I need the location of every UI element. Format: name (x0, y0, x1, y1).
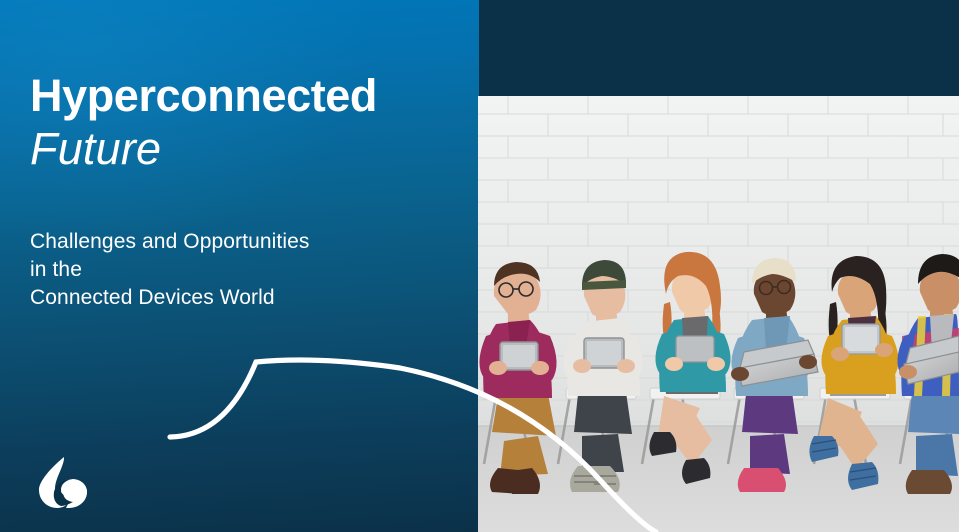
page-title: Hyperconnected (30, 72, 460, 120)
presentation-slide: Row of seven diverse young people seated… (0, 0, 959, 532)
subtitle-block: Challenges and Opportunities in the Conn… (30, 228, 450, 312)
photo-illustration (478, 96, 959, 532)
page-title-secondary: Future (30, 122, 460, 175)
brand-logo (33, 452, 95, 514)
droplet-swirl-icon (33, 452, 95, 514)
subtitle-line-3: Connected Devices World (30, 284, 450, 312)
subtitle-line-1: Challenges and Opportunities (30, 228, 450, 256)
subtitle-line-2: in the (30, 256, 450, 284)
title-block: Hyperconnected Future (30, 72, 460, 175)
hero-photo: Row of seven diverse young people seated… (478, 96, 959, 532)
